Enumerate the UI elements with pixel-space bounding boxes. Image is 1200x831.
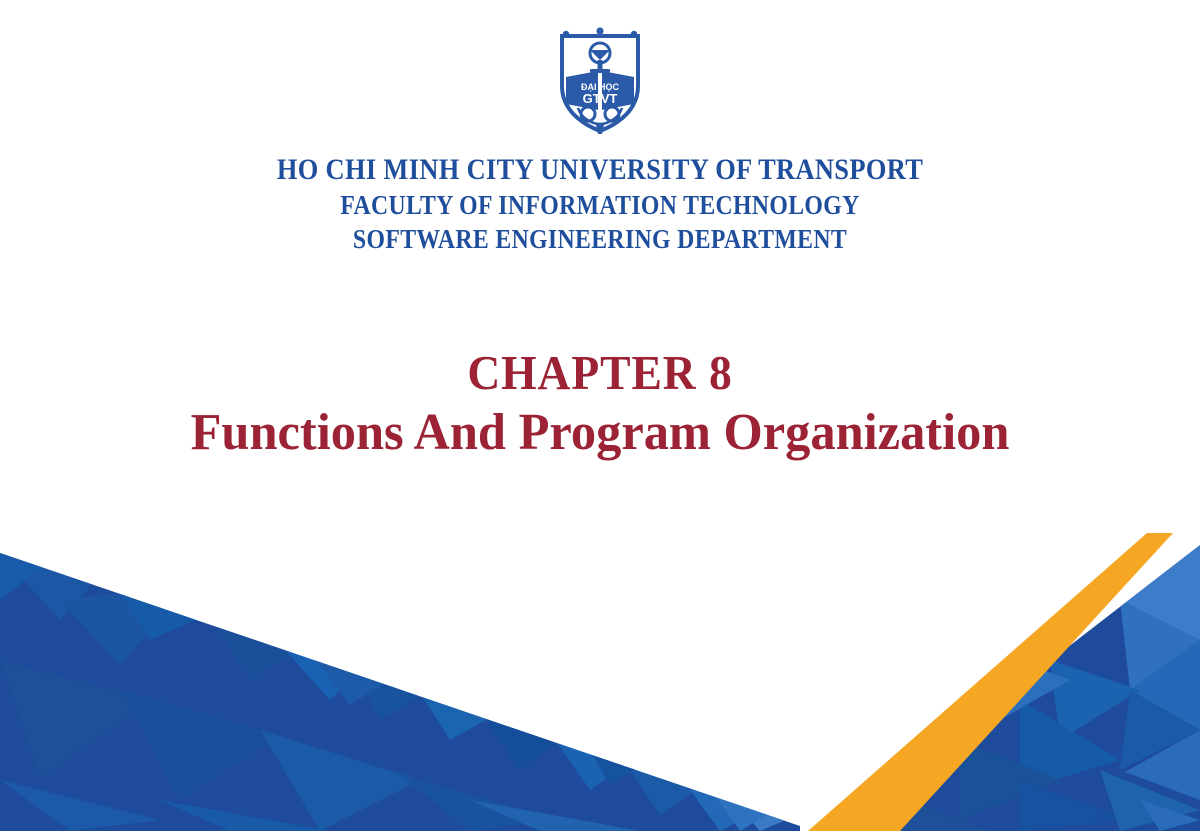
right-polygon-decoration — [820, 535, 1200, 831]
emblem-text-line2: GTVT — [583, 91, 618, 106]
chapter-title-block: CHAPTER 8 Functions And Program Organiza… — [0, 344, 1200, 464]
chapter-subject: Functions And Program Organization — [18, 402, 1182, 464]
university-name: HO CHI MINH CITY UNIVERSITY OF TRANSPORT — [72, 152, 1128, 188]
band-gap — [1173, 533, 1200, 545]
left-polygon-decoration — [0, 540, 820, 831]
department-name: SOFTWARE ENGINEERING DEPARTMENT — [72, 222, 1128, 256]
institution-header: HO CHI MINH CITY UNIVERSITY OF TRANSPORT… — [0, 152, 1200, 256]
faculty-name: FACULTY OF INFORMATION TECHNOLOGY — [72, 188, 1128, 222]
university-emblem-icon: ĐẠI HỌC GTVT — [552, 24, 648, 134]
presentation-slide: ĐẠI HỌC GTVT HO CHI MINH CITY UNIVERSITY… — [0, 0, 1200, 831]
chapter-number: CHAPTER 8 — [42, 344, 1158, 402]
orange-accent-band — [808, 533, 1173, 831]
university-logo: ĐẠI HỌC GTVT — [0, 24, 1200, 134]
